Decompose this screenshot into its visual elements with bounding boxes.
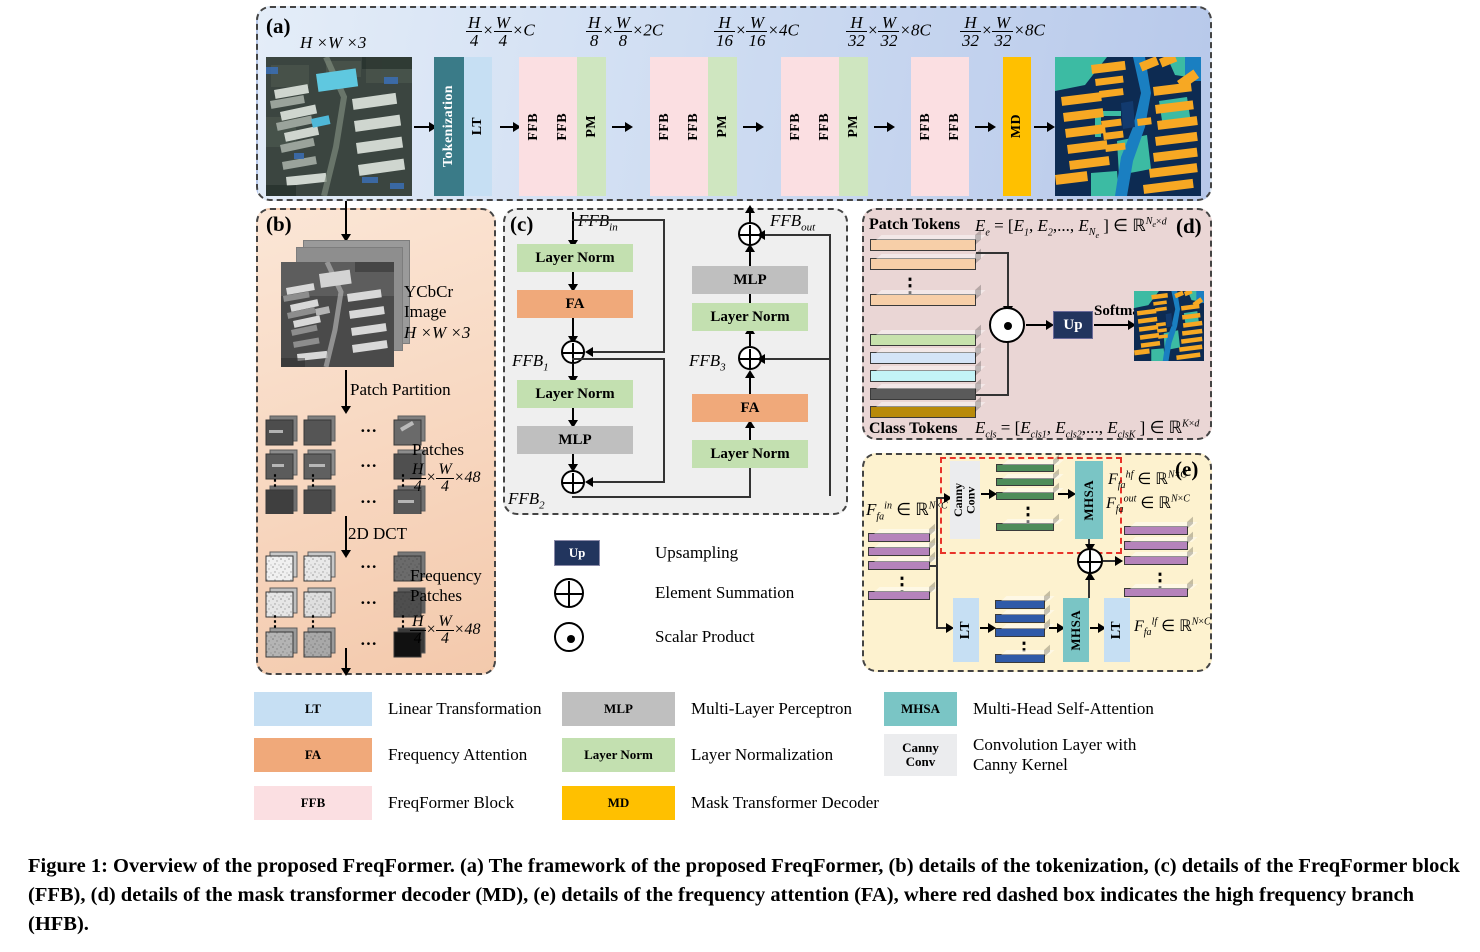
block-ffb-2: FFB xyxy=(548,57,577,196)
arrow-b-out xyxy=(345,648,347,670)
c-left-layernorm-2: Layer Norm xyxy=(517,380,633,408)
patch-partition-label: Patch Partition xyxy=(350,380,451,400)
arrowhead-a-2 xyxy=(625,122,633,132)
dct-label: 2D DCT xyxy=(348,524,407,544)
c-rskip-2-v xyxy=(829,234,831,358)
canny-conv-block: Canny Conv xyxy=(950,461,980,539)
legend-fa-abbr: FA xyxy=(305,748,321,762)
arrow-a-5 xyxy=(975,126,989,128)
c-left-layernorm-1-label: Layer Norm xyxy=(535,250,614,267)
arrow-d-to-up xyxy=(1026,324,1048,326)
symbol-legend-sum: Element Summation xyxy=(554,578,794,608)
block-pm-2-label: PM xyxy=(715,115,731,138)
block-md-label: MD xyxy=(1009,114,1025,138)
arrowhead-e-sum-bot xyxy=(1085,572,1095,580)
svg-text:···: ··· xyxy=(360,634,377,653)
svg-text:⋮: ⋮ xyxy=(306,614,321,630)
block-pm-1: PM xyxy=(577,57,606,196)
arrowhead-a-4 xyxy=(887,122,895,132)
svg-text:⋮: ⋮ xyxy=(268,614,283,630)
e-hf-token-2 xyxy=(996,478,1054,486)
arrowhead-c-out xyxy=(745,205,755,213)
arrow-dct xyxy=(345,516,347,552)
block-pm-1-label: PM xyxy=(584,115,600,138)
c-left-mlp-label: MLP xyxy=(558,432,591,449)
dim-stage-5: H32×W32×8C xyxy=(960,14,1045,49)
arrowhead-a-3 xyxy=(756,122,764,132)
up-legend-text: Upsampling xyxy=(655,543,738,563)
block-ffb-4-label: FFB xyxy=(686,113,702,141)
arrowhead-c-r2 xyxy=(745,370,755,378)
dim-stage-2: H8×W8×2C xyxy=(586,14,663,49)
arrowhead-patch-partition xyxy=(341,406,351,414)
block-ffb-3: FFB xyxy=(650,57,679,196)
block-lt-label: LT xyxy=(470,117,486,135)
svg-text:⋮: ⋮ xyxy=(306,473,321,489)
patch-tokens-equation: Ee = [E1, E2,..., ENe ] ∈ ℝNe×d xyxy=(975,216,1167,240)
legend-md-abbr: MD xyxy=(608,796,630,810)
ffb-out-label: FFBout xyxy=(770,211,815,233)
c-left-fa-label: FA xyxy=(566,296,585,313)
svg-text:⋮: ⋮ xyxy=(268,473,283,489)
panel-b-label: (b) xyxy=(266,212,292,237)
arrowhead-c-skip-2 xyxy=(585,477,593,487)
mhsa-lf-label: MHSA xyxy=(1068,610,1084,651)
block-ffb-5-label: FFB xyxy=(788,113,804,141)
legend-fa-text: Frequency Attention xyxy=(388,745,527,765)
panel-d-label: (d) xyxy=(1176,214,1202,239)
patch-token-2 xyxy=(870,258,976,270)
svg-text:···: ··· xyxy=(360,492,377,511)
arrow-d-softmax xyxy=(1094,324,1130,326)
dim-stage-3: H16×W16×4C xyxy=(714,14,799,49)
c-right-fa: FA xyxy=(692,394,808,422)
dim-stage-4: H32×W32×8C xyxy=(846,14,931,49)
class-tokens-equation: Ecls = [Ecls1, Ecls2,..., EclsK ] ∈ ℝK×d xyxy=(975,418,1199,440)
ycbcr-label: YCbCr Image H ×W ×3 xyxy=(404,282,470,343)
class-token-4 xyxy=(870,388,976,400)
c-bridge-v xyxy=(749,466,751,498)
legend-lt-box: LT xyxy=(254,692,372,726)
e-lf-token-1 xyxy=(995,600,1045,609)
arrow-a-2 xyxy=(612,126,626,128)
c-skip-2-v xyxy=(663,358,665,482)
block-ffb-7-label: FFB xyxy=(918,113,934,141)
arrowhead-e-sum-out xyxy=(1115,556,1123,566)
legend-fa-box: FA xyxy=(254,738,372,772)
c-left-layernorm-2-label: Layer Norm xyxy=(535,386,614,403)
block-pm-3: PM xyxy=(839,57,868,196)
arrowhead-c-rskip-1 xyxy=(757,354,765,364)
patch-tokens-label: Patch Tokens xyxy=(869,216,960,234)
legend-lt: LT Linear Transformation xyxy=(254,692,541,726)
e-in-token-1 xyxy=(868,533,930,542)
legend-canny-box: Canny Conv xyxy=(884,734,957,776)
sum-legend-text: Element Summation xyxy=(655,583,794,603)
legend-layernorm: Layer Norm Layer Normalization xyxy=(562,738,833,772)
frequency-patches-label-line2: Patches xyxy=(410,586,482,606)
class-tokens-label: Class Tokens xyxy=(869,420,958,438)
arrowhead-c-skip-1 xyxy=(585,347,593,357)
e-out-token-2 xyxy=(1124,541,1188,550)
block-ffb-7: FFB xyxy=(911,57,940,196)
c-sum-2 xyxy=(561,470,585,494)
block-ffb-3-label: FFB xyxy=(657,113,673,141)
input-satellite-image xyxy=(266,57,412,196)
ycbcr-label-line1: YCbCr xyxy=(404,282,470,302)
c-left-layernorm-1: Layer Norm xyxy=(517,244,633,272)
c-rskip-1-v xyxy=(829,358,831,496)
legend-layernorm-abbr: Layer Norm xyxy=(584,748,653,762)
c-right-layernorm-2-label: Layer Norm xyxy=(710,309,789,326)
arrowhead-b-out xyxy=(341,668,351,676)
patches-dim: H4×W4×48 xyxy=(410,462,480,495)
c-skip-1-v xyxy=(663,219,665,352)
legend-canny-abbr: Canny Conv xyxy=(902,741,939,768)
patch-token-1 xyxy=(870,239,976,251)
panel-c-label: (c) xyxy=(510,212,533,237)
panel-d-output-segmentation xyxy=(1134,291,1204,361)
block-ffb-1: FFB xyxy=(519,57,548,196)
up-legend-box: Up xyxy=(554,540,600,566)
c-left-mlp: MLP xyxy=(517,426,633,454)
arrow-a-1 xyxy=(500,126,514,128)
patches-label: Patches xyxy=(412,440,464,460)
arrowhead-c-rskip-2 xyxy=(757,230,765,240)
class-token-3 xyxy=(870,370,976,382)
e-hf-output-label: Ffahf ∈ ℝN×C xyxy=(1108,469,1187,491)
block-ffb-6-label: FFB xyxy=(817,113,833,141)
ycbcr-label-dim: H ×W ×3 xyxy=(404,323,470,343)
arrow-a-to-b xyxy=(345,201,347,235)
canny-conv-line2: Conv xyxy=(964,486,978,513)
dot-circle-icon xyxy=(554,622,584,652)
legend-md: MD Mask Transformer Decoder xyxy=(562,786,879,820)
panel-a-label: (a) xyxy=(266,14,291,39)
c-right-layernorm-1: Layer Norm xyxy=(692,440,808,468)
mhsa-hf-label: MHSA xyxy=(1081,480,1097,521)
block-lt: LT xyxy=(464,57,492,196)
block-ffb-5: FFB xyxy=(781,57,810,196)
block-md: MD xyxy=(1003,57,1031,196)
c-rskip-2-h xyxy=(762,234,831,236)
ffb3-label: FFB3 xyxy=(689,351,726,373)
svg-text:⋮: ⋮ xyxy=(396,473,411,489)
block-pm-2: PM xyxy=(708,57,737,196)
legend-mhsa-abbr: MHSA xyxy=(901,702,940,716)
legend-ffb: FFB FreqFormer Block xyxy=(254,786,514,820)
plus-circle-icon xyxy=(554,578,584,608)
svg-text:⋮: ⋮ xyxy=(396,614,411,630)
legend-layernorm-text: Layer Normalization xyxy=(691,745,833,765)
scalar-legend-text: Scalar Product xyxy=(655,627,755,647)
c-skip-2-h xyxy=(572,358,665,360)
legend-ffb-text: FreqFormer Block xyxy=(388,793,514,813)
arrow-a-3 xyxy=(743,126,757,128)
e-lf-token-2 xyxy=(995,614,1045,623)
e-hf-token-3 xyxy=(996,492,1054,500)
arrow-c-r3 xyxy=(749,332,751,346)
e-in-token-3 xyxy=(868,561,930,570)
dim-stage-1: H4×W4×C xyxy=(466,14,535,49)
frequency-patches-dim: H4×W4×48 xyxy=(410,614,480,647)
legend-mhsa-text: Multi-Head Self-Attention xyxy=(973,699,1154,719)
svg-text:···: ··· xyxy=(360,421,377,440)
c-skip-2-h2 xyxy=(592,481,665,483)
block-ffb-8: FFB xyxy=(940,57,969,196)
ycbcr-image-front xyxy=(281,262,394,367)
frequency-patches-label: Frequency Patches xyxy=(410,566,482,606)
block-ffb-4: FFB xyxy=(679,57,708,196)
legend-mlp: MLP Multi-Layer Perceptron xyxy=(562,692,852,726)
c-right-mlp: MLP xyxy=(692,266,808,294)
legend-canny: Canny Conv Convolution Layer with Canny … xyxy=(884,734,1136,776)
lt-lf-out-label: LT xyxy=(1109,621,1125,639)
e-lf-output-label: Ffalf ∈ ℝN×C xyxy=(1134,616,1211,638)
legend-layernorm-box: Layer Norm xyxy=(562,738,675,772)
class-token-5 xyxy=(870,406,976,418)
svg-text:···: ··· xyxy=(360,557,377,576)
arrowhead-e-sum-top xyxy=(1085,544,1095,552)
legend-fa: FA Frequency Attention xyxy=(254,738,527,772)
legend-lt-abbr: LT xyxy=(305,702,321,716)
ycbcr-label-line2: Image xyxy=(404,302,470,322)
symbol-legend-scalar: Scalar Product xyxy=(554,622,755,652)
ffb2-label: FFB2 xyxy=(508,489,545,511)
arrow-c-r1 xyxy=(749,426,751,440)
ffb1-label: FFB1 xyxy=(512,351,549,373)
figure-caption: Figure 1: Overview of the proposed FreqF… xyxy=(28,852,1462,939)
e-split-v xyxy=(936,497,938,629)
e-lf-token-3 xyxy=(995,628,1045,637)
arrow-a-4 xyxy=(874,126,888,128)
c-right-mlp-label: MLP xyxy=(733,272,766,289)
c-rskip-1-h xyxy=(762,358,831,360)
block-ffb-8-label: FFB xyxy=(947,113,963,141)
c-sum-1 xyxy=(561,340,585,364)
arrow-c-in xyxy=(572,212,574,242)
svg-text:···: ··· xyxy=(360,456,377,475)
arrowhead-a-6 xyxy=(1047,122,1055,132)
lt-lf-in-label: LT xyxy=(958,621,974,639)
up-block: Up xyxy=(1053,311,1093,339)
svg-text:···: ··· xyxy=(360,593,377,612)
c-bridge-h xyxy=(572,496,751,498)
c-left-fa: FA xyxy=(517,290,633,318)
block-ffb-2-label: FFB xyxy=(555,113,571,141)
d-conn-top-h xyxy=(976,252,1009,254)
d-conn-bot-h xyxy=(976,394,1009,396)
legend-mhsa: MHSA Multi-Head Self-Attention xyxy=(884,692,1154,726)
e-out-token-4 xyxy=(1124,588,1188,597)
up-block-label: Up xyxy=(1063,317,1082,334)
arrow-c-r2 xyxy=(749,376,751,394)
arrow-patch-partition xyxy=(345,370,347,408)
class-token-1 xyxy=(870,334,976,346)
output-segmentation-map xyxy=(1055,57,1201,196)
c-skip-1-h xyxy=(572,219,665,221)
arrow-c-l2 xyxy=(572,318,574,338)
c-right-layernorm-2: Layer Norm xyxy=(692,303,808,331)
figure-root: (a) xyxy=(0,0,1480,952)
d-conn-bot-v xyxy=(1007,340,1009,396)
lt-block-lf-out: LT xyxy=(1104,598,1130,662)
block-ffb-6: FFB xyxy=(810,57,839,196)
lt-block-lf-in: LT xyxy=(953,598,979,662)
e-lf-token-4 xyxy=(995,654,1045,663)
e-hf-token-1 xyxy=(996,464,1054,472)
legend-md-text: Mask Transformer Decoder xyxy=(691,793,879,813)
scalar-product-node xyxy=(989,307,1025,343)
block-ffb-1-label: FFB xyxy=(526,113,542,141)
legend-canny-text: Convolution Layer with Canny Kernel xyxy=(973,735,1136,774)
up-legend-abbr: Up xyxy=(569,546,586,560)
e-in-token-4 xyxy=(868,591,930,600)
e-out-token-3 xyxy=(1124,556,1188,565)
arrow-c-r5 xyxy=(749,250,751,266)
legend-mlp-abbr: MLP xyxy=(604,702,633,716)
e-out-label: Ffaout ∈ ℝN×C xyxy=(1106,493,1190,515)
legend-lt-text: Linear Transformation xyxy=(388,699,541,719)
mhsa-block-hf: MHSA xyxy=(1075,461,1103,539)
patch-token-3 xyxy=(870,294,976,306)
e-in-token-2 xyxy=(868,547,930,556)
block-tokenization: Tokenization xyxy=(434,57,464,196)
ffb-in-label: FFBin xyxy=(578,211,618,233)
e-hf-token-4 xyxy=(996,523,1054,531)
panel-a-input-dim: H ×W ×3 xyxy=(300,33,366,53)
symbol-legend-upsampling: Up Upsampling xyxy=(554,540,738,566)
c-skip-1-h2 xyxy=(592,351,665,353)
c-right-layernorm-1-label: Layer Norm xyxy=(710,446,789,463)
c-right-fa-label: FA xyxy=(741,400,760,417)
e-out-token-1 xyxy=(1124,526,1188,535)
legend-mlp-box: MLP xyxy=(562,692,675,726)
class-token-2 xyxy=(870,352,976,364)
legend-mhsa-box: MHSA xyxy=(884,692,957,726)
arrow-a-6 xyxy=(1034,126,1048,128)
d-conn-top-v xyxy=(1007,252,1009,308)
arrow-a-0 xyxy=(414,126,430,128)
block-tokenization-label: Tokenization xyxy=(441,85,457,167)
mhsa-block-lf: MHSA xyxy=(1063,598,1089,662)
legend-md-box: MD xyxy=(562,786,675,820)
legend-mlp-text: Multi-Layer Perceptron xyxy=(691,699,852,719)
arrowhead-a-5 xyxy=(988,122,996,132)
block-pm-3-label: PM xyxy=(846,115,862,138)
frequency-patches-label-line1: Frequency xyxy=(410,566,482,586)
legend-ffb-abbr: FFB xyxy=(301,796,326,810)
legend-ffb-box: FFB xyxy=(254,786,372,820)
